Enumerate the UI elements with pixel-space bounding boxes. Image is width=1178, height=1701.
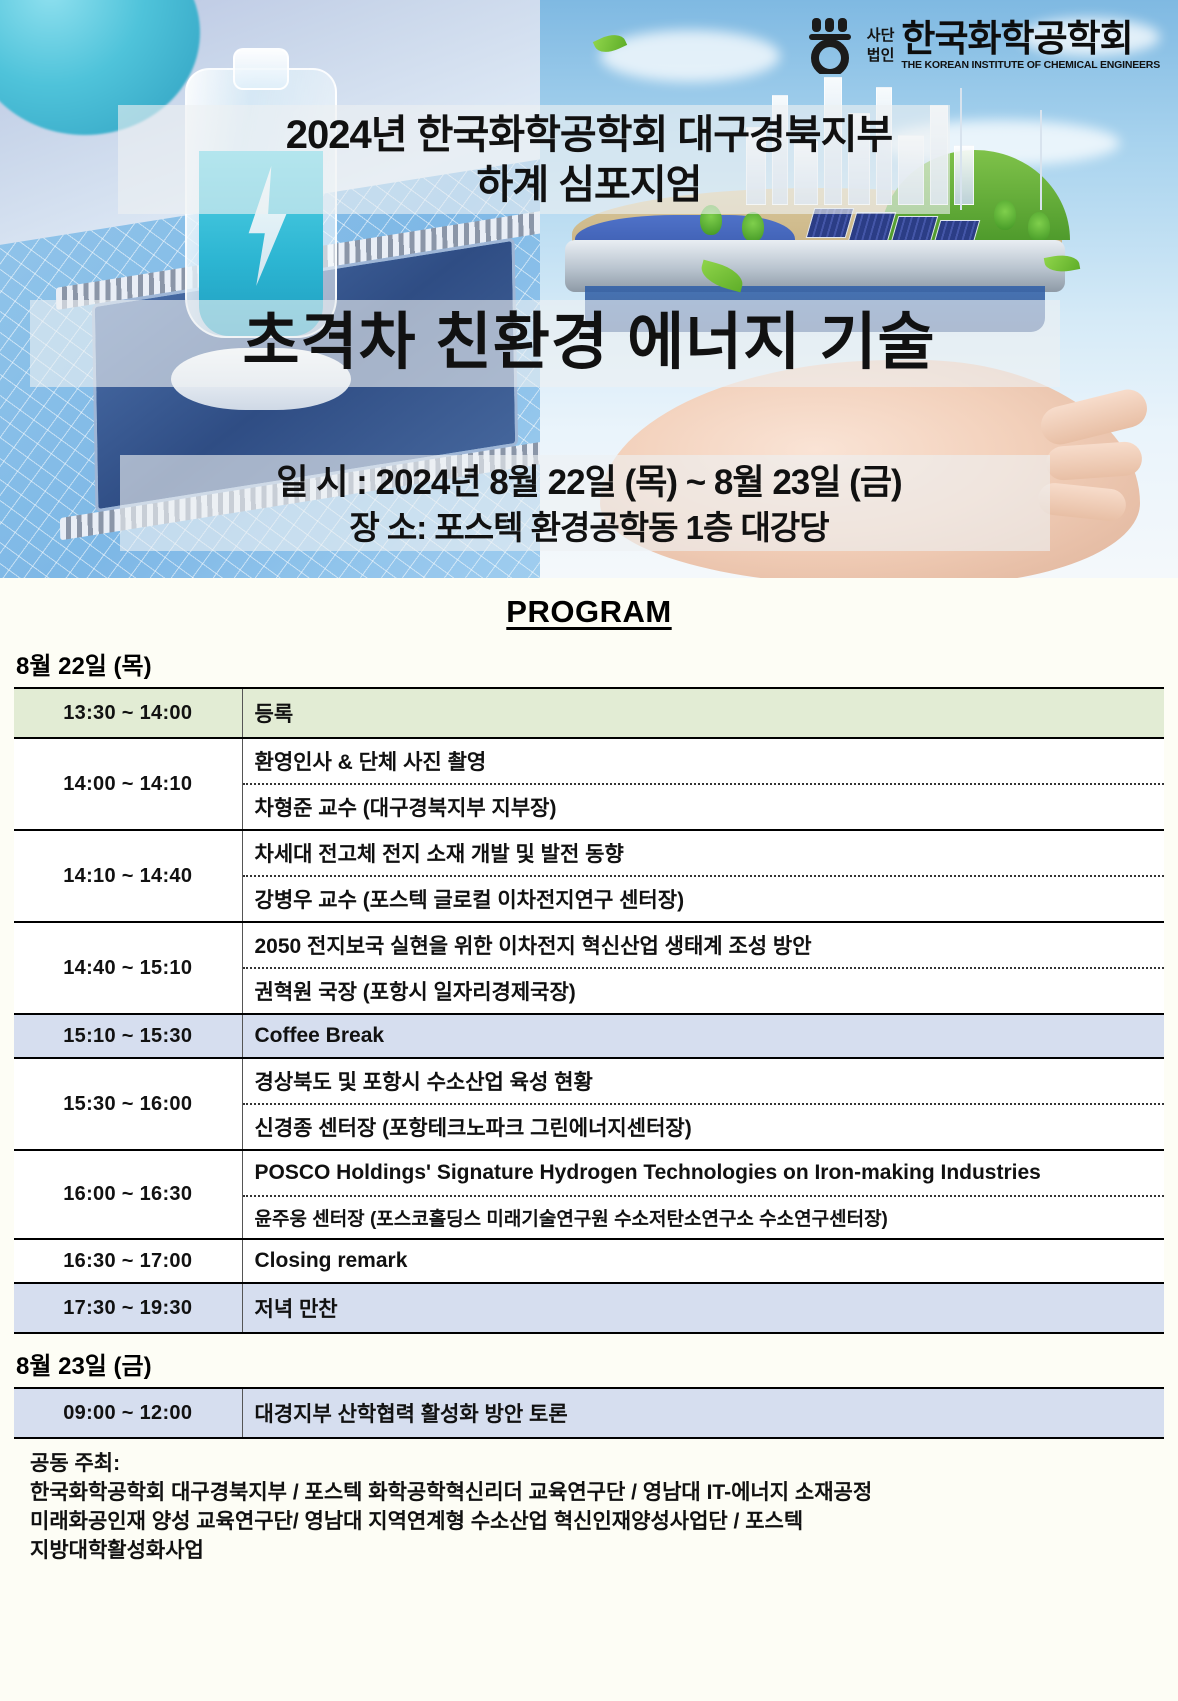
event-datetime: 일 시 : 2024년 8월 22일 (목) ~ 8월 23일 (금) <box>0 460 1178 505</box>
organizers-line-1: 한국화학공학회 대구경북지부 / 포스텍 화학공학혁신리더 교육연구단 / 영남… <box>30 1478 1150 1507</box>
organizers-title: 공동 주최: <box>30 1449 1150 1478</box>
table-row: 16:00 ~ 16:30 POSCO Holdings' Signature … <box>14 1150 1164 1239</box>
day-label-1: 8월 22일 (목) <box>14 644 1164 687</box>
row-title: 대경지부 산학협력 활성화 방안 토론 <box>243 1389 1165 1437</box>
tree-icon <box>1028 212 1050 242</box>
poster-title-line1: 2024년 한국화학공학회 대구경북지부 <box>0 110 1178 160</box>
row-title: Closing remark <box>243 1240 1165 1282</box>
row-time: 17:30 ~ 19:30 <box>14 1283 242 1333</box>
table-row: 14:40 ~ 15:10 2050 전지보국 실현을 위한 이차전지 혁신산업… <box>14 922 1164 1014</box>
tree-icon <box>742 212 764 242</box>
row-body: 2050 전지보국 실현을 위한 이차전지 혁신산업 생태계 조성 방안 권혁원… <box>242 922 1164 1014</box>
table-row: 15:10 ~ 15:30 Coffee Break <box>14 1014 1164 1058</box>
row-title: 저녁 만찬 <box>243 1284 1165 1332</box>
logo-name-kr: 한국화학공학회 <box>901 20 1160 57</box>
row-body: 경상북도 및 포항시 수소산업 육성 현황 신경종 센터장 (포항테크노파크 그… <box>242 1058 1164 1150</box>
logo-prefix-top: 사단 <box>867 28 895 43</box>
table-row: 14:10 ~ 14:40 차세대 전고체 전지 소재 개발 및 발전 동향 강… <box>14 830 1164 922</box>
battery-cap <box>233 48 289 90</box>
logo-name-en: THE KOREAN INSTITUTE OF CHEMICAL ENGINEE… <box>901 60 1160 71</box>
organizers-line-3: 지방대학활성화사업 <box>30 1536 1150 1565</box>
program-section: PROGRAM 8월 22일 (목) 13:30 ~ 14:00 등록 14:0… <box>0 578 1178 1565</box>
row-time: 15:10 ~ 15:30 <box>14 1014 242 1058</box>
table-row: 15:30 ~ 16:00 경상북도 및 포항시 수소산업 육성 현황 신경종 … <box>14 1058 1164 1150</box>
row-speaker: 차형준 교수 (대구경북지부 지부장) <box>243 785 1165 829</box>
row-title: Coffee Break <box>243 1015 1165 1057</box>
row-speaker: 신경종 센터장 (포항테크노파크 그린에너지센터장) <box>243 1105 1165 1149</box>
row-time: 14:00 ~ 14:10 <box>14 738 242 830</box>
logo-prefix-bottom: 법인 <box>867 48 895 63</box>
row-topic: 경상북도 및 포항시 수소산업 육성 현황 <box>243 1059 1165 1105</box>
row-body: Coffee Break <box>242 1014 1164 1058</box>
display-platform <box>565 240 1065 292</box>
table-row: 17:30 ~ 19:30 저녁 만찬 <box>14 1283 1164 1333</box>
schedule-table-day2: 09:00 ~ 12:00 대경지부 산학협력 활성화 방안 토론 <box>14 1387 1164 1439</box>
row-body: 환영인사 & 단체 사진 촬영 차형준 교수 (대구경북지부 지부장) <box>242 738 1164 830</box>
row-time: 13:30 ~ 14:00 <box>14 688 242 738</box>
day-label-2: 8월 23일 (금) <box>14 1344 1164 1387</box>
poster-subtitle: 초격차 친환경 에너지 기술 <box>0 303 1178 383</box>
organizers-footer: 공동 주최: 한국화학공학회 대구경북지부 / 포스텍 화학공학혁신리더 교육연… <box>14 1439 1164 1565</box>
row-body: 저녁 만찬 <box>242 1283 1164 1333</box>
kiche-emblem-icon <box>808 16 860 74</box>
table-row: 14:00 ~ 14:10 환영인사 & 단체 사진 촬영 차형준 교수 (대구… <box>14 738 1164 830</box>
row-topic: POSCO Holdings' Signature Hydrogen Techn… <box>243 1151 1165 1197</box>
row-body: 대경지부 산학협력 활성화 방안 토론 <box>242 1388 1164 1438</box>
program-heading: PROGRAM <box>14 594 1164 630</box>
row-body: 차세대 전고체 전지 소재 개발 및 발전 동향 강병우 교수 (포스텍 글로컬… <box>242 830 1164 922</box>
row-time: 09:00 ~ 12:00 <box>14 1388 242 1438</box>
organizers-line-2: 미래화공인재 양성 교육연구단/ 영남대 지역연계형 수소산업 혁신인재양성사업… <box>30 1507 1150 1536</box>
row-time: 16:30 ~ 17:00 <box>14 1239 242 1283</box>
table-row: 13:30 ~ 14:00 등록 <box>14 688 1164 738</box>
poster-title-line2: 하계 심포지엄 <box>0 160 1178 210</box>
table-row: 16:30 ~ 17:00 Closing remark <box>14 1239 1164 1283</box>
row-time: 15:30 ~ 16:00 <box>14 1058 242 1150</box>
kiche-logo: 사단 법인 한국화학공학회 THE KOREAN INSTITUTE OF CH… <box>808 16 1160 74</box>
row-topic: 환영인사 & 단체 사진 촬영 <box>243 739 1165 785</box>
schedule-table-day1: 13:30 ~ 14:00 등록 14:00 ~ 14:10 환영인사 & 단체… <box>14 687 1164 1334</box>
row-time: 14:40 ~ 15:10 <box>14 922 242 1014</box>
row-speaker: 강병우 교수 (포스텍 글로컬 이차전지연구 센터장) <box>243 877 1165 921</box>
poster-title: 2024년 한국화학공학회 대구경북지부 하계 심포지엄 <box>0 110 1178 210</box>
row-speaker: 윤주웅 센터장 (포스코홀딩스 미래기술연구원 수소저탄소연구소 수소연구센터장… <box>243 1197 1165 1238</box>
event-location: 장 소: 포스텍 환경공학동 1층 대강당 <box>0 505 1178 550</box>
row-body: POSCO Holdings' Signature Hydrogen Techn… <box>242 1150 1164 1239</box>
row-time: 14:10 ~ 14:40 <box>14 830 242 922</box>
row-topic: 2050 전지보국 실현을 위한 이차전지 혁신산업 생태계 조성 방안 <box>243 923 1165 969</box>
row-body: Closing remark <box>242 1239 1164 1283</box>
conference-poster: 사단 법인 한국화학공학회 THE KOREAN INSTITUTE OF CH… <box>0 0 1178 1701</box>
table-row: 09:00 ~ 12:00 대경지부 산학협력 활성화 방안 토론 <box>14 1388 1164 1438</box>
row-time: 16:00 ~ 16:30 <box>14 1150 242 1239</box>
row-title: 등록 <box>243 689 1165 737</box>
row-speaker: 권혁원 국장 (포항시 일자리경제국장) <box>243 969 1165 1013</box>
row-topic: 차세대 전고체 전지 소재 개발 및 발전 동향 <box>243 831 1165 877</box>
row-body: 등록 <box>242 688 1164 738</box>
hero-banner: 사단 법인 한국화학공학회 THE KOREAN INSTITUTE OF CH… <box>0 0 1178 578</box>
